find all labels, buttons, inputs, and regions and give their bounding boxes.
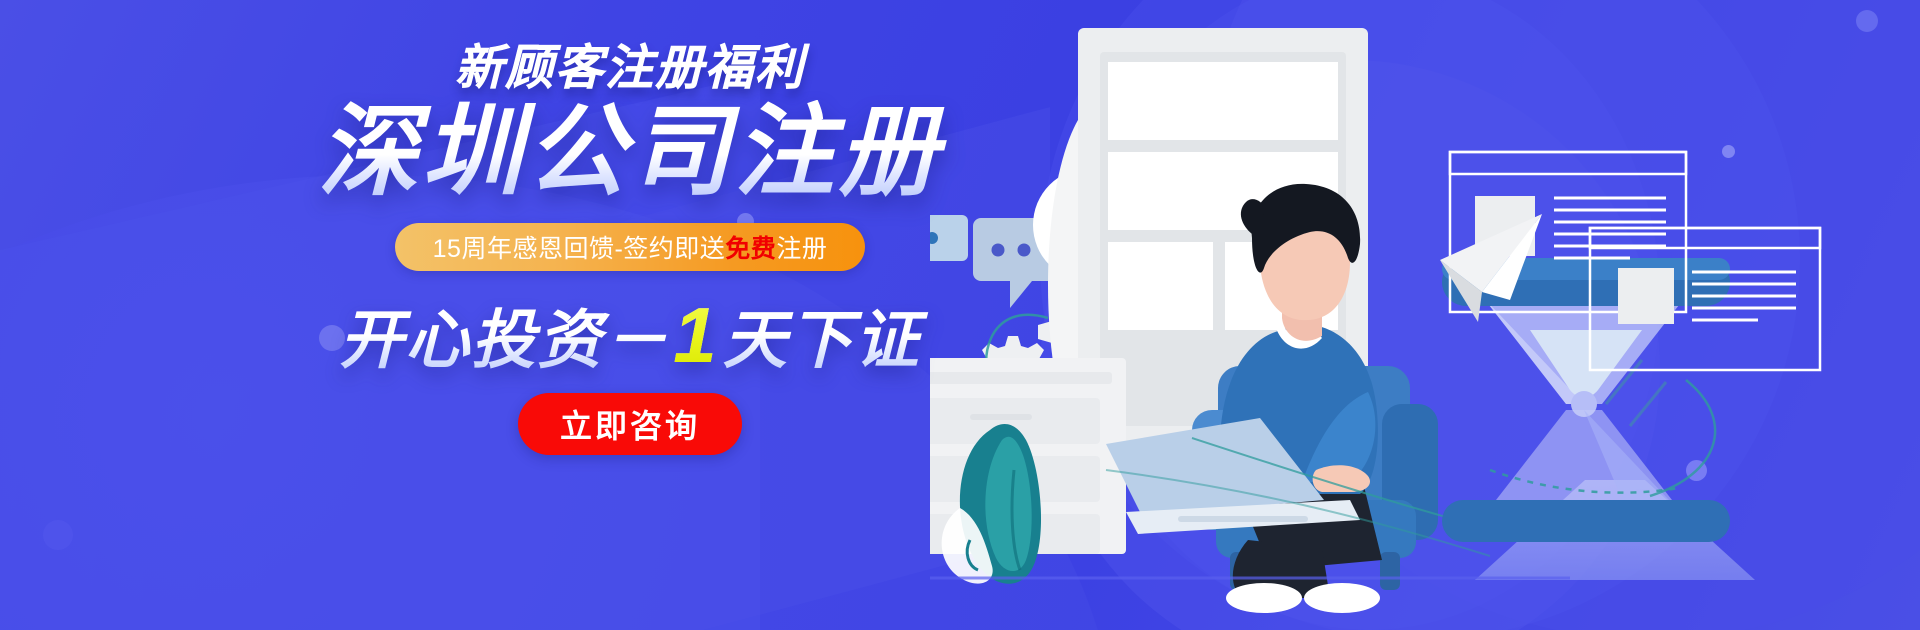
promo-badge-highlight: 免费	[725, 235, 776, 263]
illustration	[930, 0, 1920, 630]
subheadline-after: 天下证	[723, 304, 921, 376]
decorative-dot	[43, 520, 73, 550]
page-title: 深圳公司注册	[310, 100, 950, 205]
banner-copy: 新顾客注册福利 深圳公司注册 15周年感恩回馈-签约即送免费注册 开心投资－1天…	[310, 44, 950, 455]
promo-badge-suffix: 注册	[776, 235, 827, 263]
subheadline-before: 开心投资－	[339, 304, 669, 376]
subheadline: 开心投资－1天下证	[310, 295, 950, 377]
promo-banner: 新顾客注册福利 深圳公司注册 15周年感恩回馈-签约即送免费注册 开心投资－1天…	[0, 0, 1920, 630]
eyebrow-text: 新顾客注册福利	[310, 44, 950, 94]
promo-badge: 15周年感恩回馈-签约即送免费注册	[395, 223, 865, 271]
consult-now-button[interactable]: 立即咨询	[518, 393, 742, 455]
subheadline-number: 1	[669, 291, 722, 379]
connector-curve	[1650, 380, 1715, 496]
promo-badge-prefix: 15周年感恩回馈-签约即送	[433, 235, 726, 263]
